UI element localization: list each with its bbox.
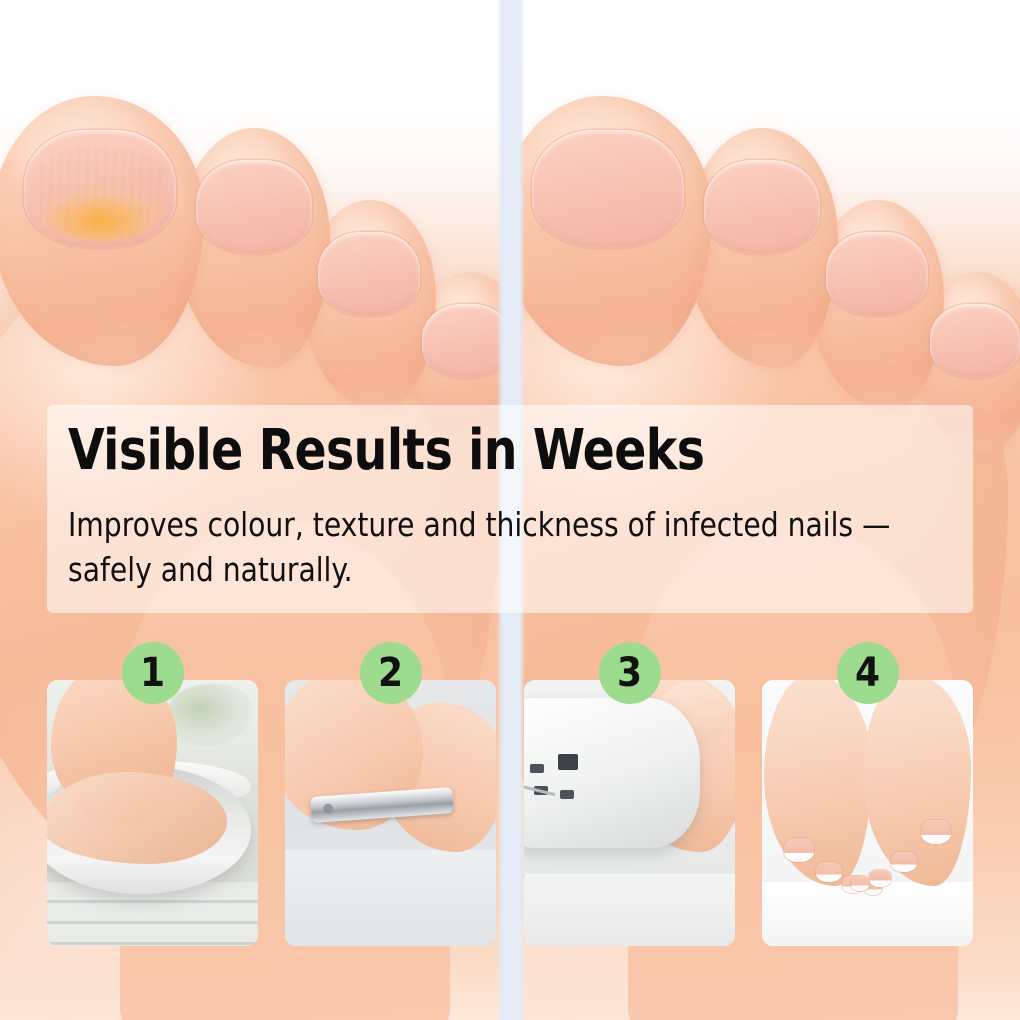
page-subtitle: Improves colour, texture and thickness o…: [68, 503, 910, 593]
step-item-4[interactable]: 4: [762, 680, 973, 946]
promo-graphic: Visible Results in Weeks Improves colour…: [0, 0, 1020, 1020]
step-item-2[interactable]: 2: [285, 680, 496, 946]
step-thumbnail-apply-device: [524, 680, 735, 946]
greenery-decor: [166, 684, 252, 746]
step-badge-3: 3: [599, 642, 661, 704]
result-nail-6: [891, 852, 917, 872]
before-infected-nail: [24, 130, 176, 248]
before-nail-3: [318, 232, 420, 316]
bed-sheet: [285, 850, 496, 946]
steps-row: 1 2: [47, 680, 973, 946]
result-nail-7: [869, 870, 891, 887]
step-thumbnail-trim-nails: [285, 680, 496, 946]
step-number-4: 4: [855, 653, 880, 693]
after-nail-4: [930, 304, 1020, 378]
step-badge-4: 4: [837, 642, 899, 704]
page-title: Visible Results in Weeks: [68, 423, 704, 479]
before-nail-2: [196, 160, 312, 254]
headline-card: Visible Results in Weeks Improves colour…: [47, 405, 973, 613]
step-number-3: 3: [617, 653, 642, 693]
result-nail-1: [784, 838, 814, 862]
step-item-3[interactable]: 3: [524, 680, 735, 946]
after-healthy-nail: [532, 130, 684, 248]
result-nail-8: [851, 876, 869, 891]
device-button-3: [560, 790, 574, 799]
marble-surface: [524, 874, 735, 946]
result-nail-2: [816, 862, 842, 882]
result-foot-right: [863, 680, 971, 886]
device-screen: [558, 754, 578, 770]
step-thumbnail-soak-feet: [47, 680, 258, 946]
after-nail-2: [704, 160, 820, 254]
step-number-1: 1: [140, 653, 165, 693]
result-foot-left: [764, 680, 872, 886]
device-button-1: [530, 764, 544, 773]
result-nail-5: [921, 820, 951, 844]
after-nail-3: [826, 232, 928, 316]
step-badge-2: 2: [360, 642, 422, 704]
step-badge-1: 1: [122, 642, 184, 704]
step-thumbnail-healthy-result: [762, 680, 973, 946]
step-item-1[interactable]: 1: [47, 680, 258, 946]
step-number-2: 2: [378, 653, 403, 693]
laser-device: [524, 698, 700, 848]
